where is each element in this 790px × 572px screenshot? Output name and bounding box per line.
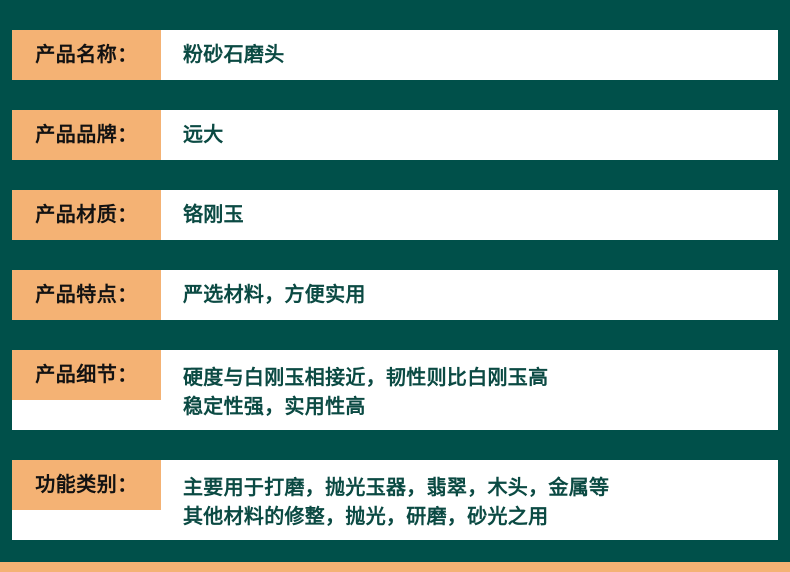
label-text: 产品名称：: [35, 45, 138, 65]
label-chip-product-brand: 产品品牌：: [12, 110, 161, 160]
label-chip-product-material: 产品材质：: [12, 190, 161, 240]
value-line: 硬度与白刚玉相接近，韧性则比白刚玉高: [183, 364, 764, 393]
label-text: 产品细节：: [35, 365, 138, 385]
label-text: 产品品牌：: [35, 125, 138, 145]
value-line: 主要用于打磨，抛光玉器，翡翠，木头，金属等: [183, 474, 764, 503]
value-line: 严选材料，方便实用: [183, 281, 764, 310]
label-chip-function-category: 功能类别：: [12, 460, 161, 510]
value-line: 铬刚玉: [183, 201, 764, 230]
label-chip-product-name: 产品名称：: [12, 30, 161, 80]
bottom-accent-bar: [0, 562, 790, 572]
label-text: 产品特点：: [35, 285, 138, 305]
value-line: 其他材料的修整，抛光，研磨，砂光之用: [183, 503, 764, 532]
label-text: 产品材质：: [35, 205, 138, 225]
label-chip-product-details: 产品细节：: [12, 350, 161, 400]
value-line: 稳定性强，实用性高: [183, 393, 764, 422]
product-spec-sheet: 粉砂石磨头 产品名称： 远大 产品品牌： 铬刚玉 产品材质： 严选材料，方便实用…: [0, 0, 790, 572]
label-text: 功能类别：: [35, 475, 138, 495]
value-line: 远大: [183, 121, 764, 150]
value-line: 粉砂石磨头: [183, 41, 764, 70]
label-chip-product-features: 产品特点：: [12, 270, 161, 320]
